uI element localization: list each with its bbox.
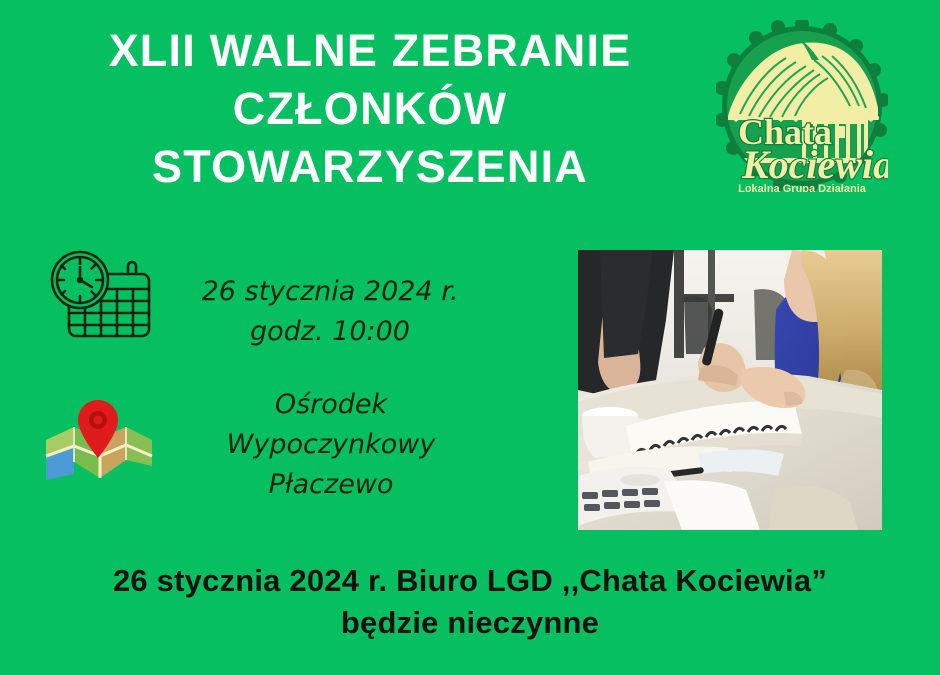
logo-tagline: Lokalna Grupa Działania (738, 183, 867, 192)
event-date: 26 stycznia 2024 r. (175, 272, 485, 312)
clock-calendar-icon (44, 248, 156, 350)
meeting-photo (578, 250, 882, 530)
location-line-2: Wypoczynkowy (192, 425, 470, 465)
svg-text:Kociewia: Kociewia (741, 142, 888, 187)
notice-line-2: będzie nieczynne (0, 602, 940, 644)
title-line-1: XLII WALNE ZEBRANIE (30, 22, 710, 80)
title-line-3: STOWARZYSZENIA (30, 138, 710, 196)
office-closed-notice: 26 stycznia 2024 r. Biuro LGD ,,Chata Ko… (0, 560, 940, 644)
map-pin-icon (40, 396, 156, 480)
notice-line-1: 26 stycznia 2024 r. Biuro LGD ,,Chata Ko… (0, 560, 940, 602)
title-line-2: CZŁONKÓW (30, 80, 710, 138)
poster-canvas: XLII WALNE ZEBRANIE CZŁONKÓW STOWARZYSZE… (0, 0, 940, 675)
event-datetime: 26 stycznia 2024 r. godz. 10:00 (175, 272, 485, 352)
event-time: godz. 10:00 (175, 312, 485, 352)
logo-text-kociewia: Kociewia (741, 142, 888, 187)
poster-title: XLII WALNE ZEBRANIE CZŁONKÓW STOWARZYSZE… (30, 22, 710, 196)
chata-kociewia-logo: Chata Kociewia Lokalna Grupa Działania (716, 20, 888, 192)
event-location: Ośrodek Wypoczynkowy Płaczewo (192, 385, 470, 505)
location-line-3: Płaczewo (192, 465, 470, 505)
location-line-1: Ośrodek (192, 385, 470, 425)
